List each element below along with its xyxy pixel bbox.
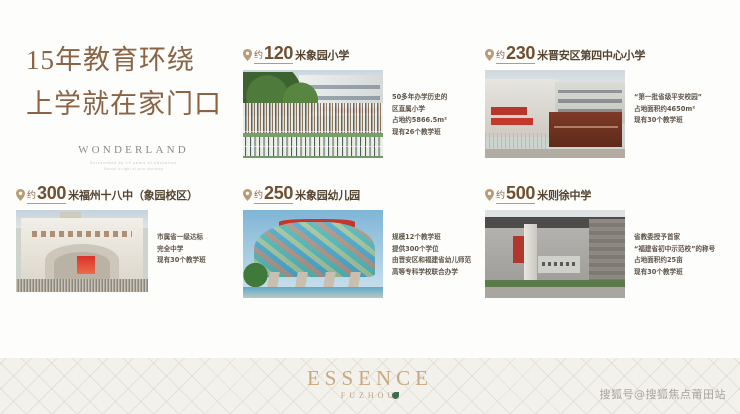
- desc-line: 现有30个教学班: [157, 255, 206, 267]
- school-photo: [243, 70, 383, 158]
- headline-block: 15年教育环绕 上学就在家门口 WONDERLAND Surrounded by…: [26, 40, 241, 171]
- desc-line: 占地面积约4650m²: [634, 104, 702, 116]
- distance-value: 230: [506, 45, 535, 62]
- card-body: 省教委授予首家 “福建省初中示范校”的称号 占地面积约25亩 现有30个教学班: [485, 210, 715, 298]
- distance-value: 500: [506, 185, 535, 202]
- school-name: 米象园幼儿园: [295, 189, 360, 204]
- school-photo: [485, 210, 625, 298]
- watermark: 搜狐号@搜狐焦点莆田站: [600, 386, 727, 402]
- distance-value: 120: [264, 45, 293, 62]
- school-description: “第一批省级平安校园” 占地面积约4650m² 现有30个教学班: [634, 70, 702, 158]
- desc-line: 50多年办学历史的: [392, 92, 447, 104]
- school-name: 米福州十八中（象园校区）: [68, 189, 198, 204]
- desc-line: 现有30个教学班: [634, 267, 715, 279]
- distance-value: 300: [37, 185, 66, 202]
- distance-underlined: 约 230: [496, 45, 535, 64]
- location-pin-icon: [243, 188, 252, 200]
- school-card-fuzhou-18th-middle[interactable]: 约 300 米福州十八中（象园校区） 市属省一级达标 完全中学 现有30个教学班: [16, 184, 206, 292]
- distance-underlined: 约 250: [254, 185, 293, 204]
- school-card-zexu-middle[interactable]: 约 500 米则徐中学 省教委授予首家 “福建省初中示范校”的称号 占地面积约2…: [485, 184, 715, 298]
- location-pin-icon: [485, 48, 494, 60]
- card-body: “第一批省级平安校园” 占地面积约4650m² 现有30个教学班: [485, 70, 702, 158]
- brand-city-text: FUZHOU: [341, 391, 397, 400]
- school-description: 市属省一级达标 完全中学 现有30个教学班: [157, 210, 206, 292]
- school-name: 米象园小学: [295, 49, 349, 64]
- headline-line-2: 上学就在家门口: [26, 84, 241, 124]
- school-description: 省教委授予首家 “福建省初中示范校”的称号 占地面积约25亩 现有30个教学班: [634, 210, 715, 298]
- school-description: 规模12个教学班 提供300个学位 由晋安区和福建省幼儿师范 高等专科学校联合办…: [392, 210, 471, 298]
- school-card-jinan-4th-central-primary[interactable]: 约 230 米晋安区第四中心小学 “第一批省级平安校园” 占地面积约4650m²…: [485, 44, 702, 158]
- desc-line: 规模12个教学班: [392, 232, 471, 244]
- desc-line: 由晋安区和福建省幼儿师范: [392, 255, 471, 267]
- distance-underlined: 约 120: [254, 45, 293, 64]
- card-title: 约 250 米象园幼儿园: [243, 184, 471, 204]
- footer: ESSENCE FUZHOU 搜狐号@搜狐焦点莆田站: [0, 358, 740, 414]
- distance-underlined: 约 500: [496, 185, 535, 204]
- school-name: 米则徐中学: [537, 189, 591, 204]
- approx-label: 约: [496, 190, 505, 202]
- card-body: 50多年办学历史的 区直属小学 占地约5866.5m² 现有26个教学班: [243, 70, 447, 158]
- headline-english: WONDERLAND: [26, 144, 241, 156]
- school-photo: [485, 70, 625, 158]
- desc-line: 现有26个教学班: [392, 127, 447, 139]
- location-pin-icon: [16, 188, 25, 200]
- desc-line: 占地约5866.5m²: [392, 115, 447, 127]
- location-pin-icon: [243, 48, 252, 60]
- distance-underlined: 约 300: [27, 185, 66, 204]
- school-description: 50多年办学历史的 区直属小学 占地约5866.5m² 现有26个教学班: [392, 70, 447, 158]
- card-title: 约 230 米晋安区第四中心小学: [485, 44, 702, 64]
- poster-page: 15年教育环绕 上学就在家门口 WONDERLAND Surrounded by…: [0, 0, 740, 414]
- school-card-xiangyuan-kindergarten[interactable]: 约 250 米象园幼儿园 规模12个教学班 提供300个学位 由晋安区和福建省幼…: [243, 184, 471, 298]
- approx-label: 约: [496, 50, 505, 62]
- desc-line: 市属省一级达标: [157, 232, 206, 244]
- desc-line: 高等专科学校联合办学: [392, 267, 471, 279]
- card-title: 约 500 米则徐中学: [485, 184, 715, 204]
- approx-label: 约: [254, 50, 263, 62]
- school-photo: [243, 210, 383, 298]
- desc-line: 完全中学: [157, 244, 206, 256]
- card-title: 约 120 米象园小学: [243, 44, 447, 64]
- school-name: 米晋安区第四中心小学: [537, 49, 645, 64]
- desc-line: 提供300个学位: [392, 244, 471, 256]
- leaf-icon: [392, 392, 399, 399]
- desc-line: 现有30个教学班: [634, 115, 702, 127]
- desc-line: 区直属小学: [392, 104, 447, 116]
- headline-line-1: 15年教育环绕: [26, 40, 241, 80]
- school-photo: [16, 210, 148, 292]
- approx-label: 约: [27, 190, 36, 202]
- headline-sub-1: Surrounded by 15 years of education: [26, 161, 241, 165]
- headline-sub-2: School is right at your doorstep: [26, 167, 241, 171]
- location-pin-icon: [485, 188, 494, 200]
- card-title: 约 300 米福州十八中（象园校区）: [16, 184, 206, 204]
- card-body: 市属省一级达标 完全中学 现有30个教学班: [16, 210, 206, 292]
- distance-value: 250: [264, 185, 293, 202]
- desc-line: 占地面积约25亩: [634, 255, 715, 267]
- card-body: 规模12个教学班 提供300个学位 由晋安区和福建省幼儿师范 高等专科学校联合办…: [243, 210, 471, 298]
- desc-line: 省教委授予首家: [634, 232, 715, 244]
- desc-line: “第一批省级平安校园”: [634, 92, 702, 104]
- approx-label: 约: [254, 190, 263, 202]
- school-card-xiangyuan-primary[interactable]: 约 120 米象园小学 50多年办学历史的 区直属小学 占地约5866.5m² …: [243, 44, 447, 158]
- desc-line: “福建省初中示范校”的称号: [634, 244, 715, 256]
